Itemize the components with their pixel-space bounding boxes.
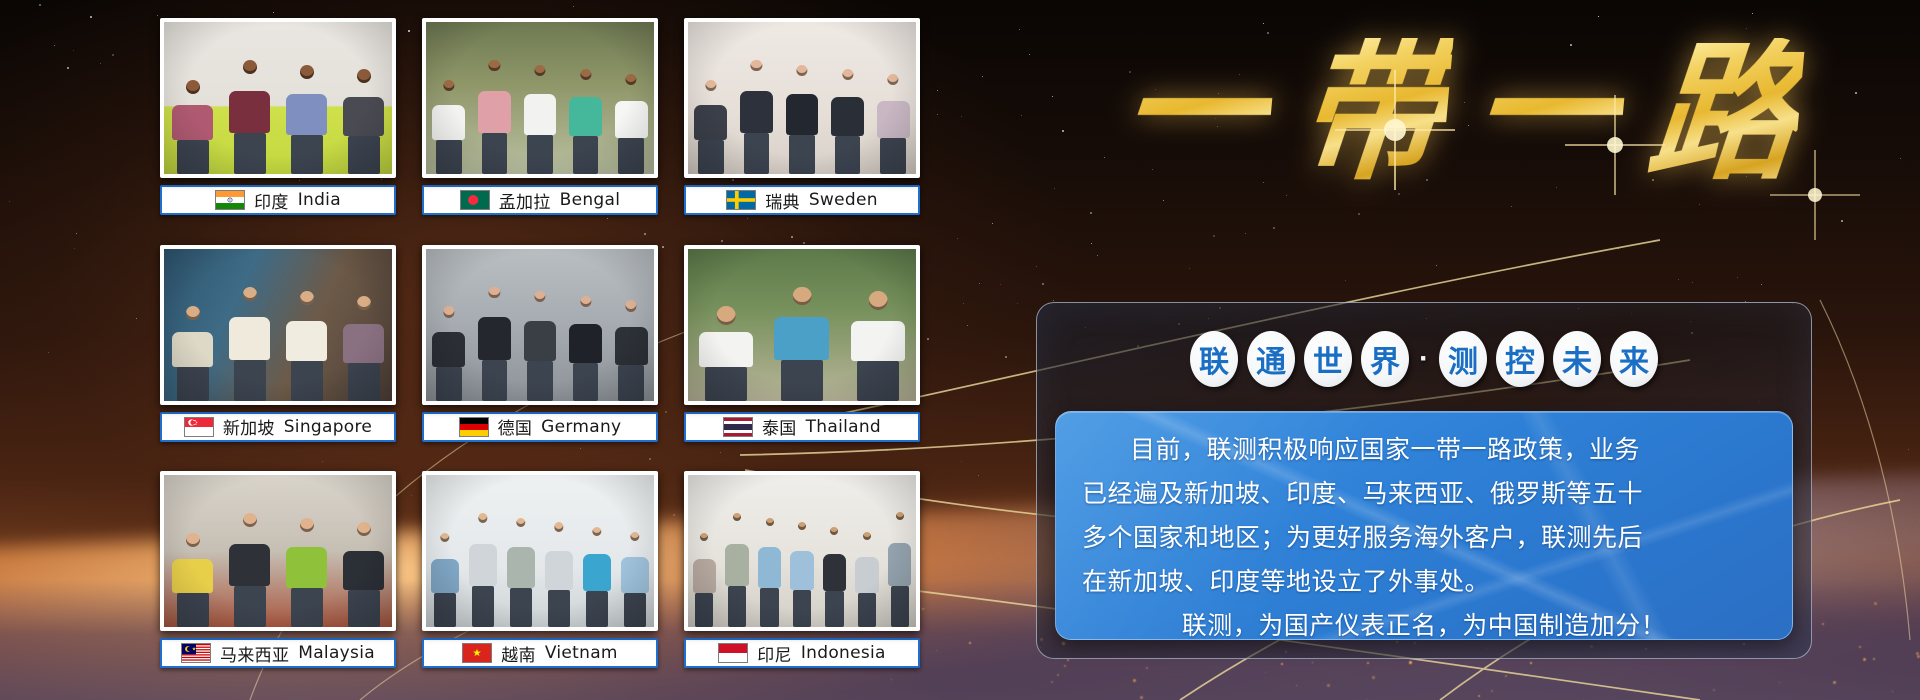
photo-vignette: [426, 249, 654, 401]
slogan-char: 控: [1496, 331, 1544, 387]
country-caption: 印尼Indonesia: [684, 638, 920, 668]
photo-vignette: [164, 475, 392, 627]
star-dot: [1678, 279, 1679, 280]
star-dot: [1618, 248, 1619, 249]
country-label-en: Bengal: [560, 190, 621, 210]
calligraphy-char: 路: [1642, 38, 1805, 188]
country-card[interactable]: 印尼Indonesia: [684, 471, 920, 686]
star-dot: [67, 67, 69, 69]
star-dot: [39, 4, 41, 6]
star-dot: [1097, 255, 1098, 256]
star-dot: [1436, 265, 1437, 266]
country-caption: ★马来西亚Malaysia: [160, 638, 396, 668]
slogan-row: 联通世界·测控未来: [1037, 331, 1811, 387]
star-dot: [1091, 243, 1092, 244]
country-label-en: Indonesia: [801, 643, 886, 663]
country-card[interactable]: 印度India: [160, 18, 396, 233]
slogan-char: 未: [1553, 331, 1601, 387]
slogan-char: 世: [1304, 331, 1352, 387]
svg-text:★: ★: [473, 649, 482, 660]
star-dot: [1053, 300, 1054, 301]
description-line: 已经遍及新加坡、印度、马来西亚、俄罗斯等五十: [1082, 472, 1766, 516]
star-dot: [961, 461, 962, 462]
photo-vignette: [426, 22, 654, 174]
star-dot: [136, 318, 137, 319]
photo-vignette: [688, 249, 916, 401]
photo-vignette: [688, 475, 916, 627]
country-caption: 孟加拉Bengal: [422, 185, 658, 215]
calligraphy-char: 一: [1466, 38, 1629, 188]
slogan-char: 界: [1361, 331, 1409, 387]
team-photo-germany[interactable]: [422, 245, 658, 405]
flag-sweden-icon: [726, 190, 756, 210]
photo-vignette: [426, 475, 654, 627]
star-dot: [982, 76, 983, 77]
star-dot: [1273, 227, 1275, 229]
country-card[interactable]: 泰国Thailand: [684, 245, 920, 460]
flag-germany-icon: [459, 417, 489, 437]
star-dot: [76, 233, 77, 234]
country-label: 瑞典: [765, 188, 800, 213]
country-label: 越南: [501, 641, 536, 666]
country-card[interactable]: 孟加拉Bengal: [422, 18, 658, 233]
slogan-char: 来: [1610, 331, 1658, 387]
star-dot: [957, 238, 958, 239]
country-label: 泰国: [762, 414, 797, 439]
description-line: 目前，联测积极响应国家一带一路政策，业务: [1082, 428, 1766, 472]
star-dot: [9, 201, 10, 202]
flag-malaysia-icon: ★: [181, 643, 211, 663]
flag-thailand-icon: [723, 417, 753, 437]
description-line: 在新加坡、印度等地设立了外事处。: [1082, 560, 1766, 604]
star-dot: [273, 12, 274, 13]
team-photo-thailand[interactable]: [684, 245, 920, 405]
flag-indonesia-icon: [718, 643, 748, 663]
flag-bangladesh-icon: [460, 190, 490, 210]
star-dot: [73, 50, 74, 51]
flag-india-icon: [215, 190, 245, 210]
country-label-en: Thailand: [806, 417, 881, 437]
star-dot: [1345, 280, 1346, 281]
star-dot: [112, 54, 114, 56]
star-dot: [100, 63, 101, 64]
country-caption: 德国Germany: [422, 412, 658, 442]
slogan-char: 联: [1190, 331, 1238, 387]
calligraphy-char: 一: [1114, 38, 1277, 188]
team-photo-india[interactable]: [160, 18, 396, 178]
country-label: 新加坡: [223, 414, 275, 439]
country-label: 印度: [254, 188, 289, 213]
description-line: 多个国家和地区；为更好服务海外客户，联测先后: [1082, 516, 1766, 560]
banner-stage: 印度India孟加拉Bengal瑞典Sweden新加坡Singapore德国Ge…: [0, 0, 1920, 700]
photo-vignette: [164, 22, 392, 174]
star-dot: [1005, 356, 1007, 358]
slogan-separator: ·: [1419, 342, 1429, 376]
description-line: 联测，为国产仪表正名，为中国制造加分！: [1082, 604, 1766, 640]
country-label-en: Sweden: [809, 190, 878, 210]
description-box: 目前，联测积极响应国家一带一路政策，业务 已经遍及新加坡、印度、马来西亚、俄罗斯…: [1055, 411, 1793, 640]
country-label-en: Germany: [541, 417, 621, 437]
country-card[interactable]: 瑞典Sweden: [684, 18, 920, 233]
info-panel: 联通世界·测控未来 目前，联测积极响应国家一带一路政策，业务 已经遍及新加坡、印…: [1036, 302, 1812, 659]
star-dot: [967, 325, 968, 326]
team-photo-malaysia[interactable]: [160, 471, 396, 631]
country-caption: 泰国Thailand: [684, 412, 920, 442]
star-dot: [979, 283, 980, 284]
slogan-char: 测: [1439, 331, 1487, 387]
star-dot: [1017, 303, 1018, 304]
star-dot: [573, 6, 574, 7]
country-caption: 新加坡Singapore: [160, 412, 396, 442]
flag-vietnam-icon: ★: [462, 643, 492, 663]
star-dot: [90, 16, 92, 18]
star-dot: [1245, 233, 1246, 234]
star-dot: [963, 303, 964, 304]
star-dot: [1692, 282, 1693, 283]
country-caption: 瑞典Sweden: [684, 185, 920, 215]
headline-calligraphy: 一带一路: [1020, 5, 1900, 220]
country-card[interactable]: ★马来西亚Malaysia: [160, 471, 396, 686]
country-label: 马来西亚: [220, 641, 289, 666]
country-card[interactable]: 德国Germany: [422, 245, 658, 460]
star-dot: [157, 15, 158, 16]
country-card[interactable]: 新加坡Singapore: [160, 245, 396, 460]
star-dot: [1036, 266, 1037, 267]
country-card[interactable]: ★越南Vietnam: [422, 471, 658, 686]
country-label-en: Singapore: [284, 417, 372, 437]
team-photo-bengal[interactable]: [422, 18, 658, 178]
star-dot: [1761, 284, 1762, 285]
star-dot: [937, 90, 938, 91]
star-dot: [1900, 158, 1901, 159]
star-dot: [1841, 220, 1843, 222]
country-label-en: Malaysia: [298, 643, 375, 663]
star-dot: [937, 114, 938, 115]
team-photo-vietnam[interactable]: [422, 471, 658, 631]
star-dot: [1000, 284, 1001, 285]
star-dot: [48, 352, 49, 353]
photo-vignette: [164, 249, 392, 401]
star-dot: [1213, 235, 1215, 237]
star-dot: [1737, 277, 1738, 278]
star-dot: [54, 45, 55, 46]
star-dot: [927, 338, 929, 340]
team-photo-singapore[interactable]: [160, 245, 396, 405]
calligraphy-char: 带: [1290, 38, 1453, 188]
country-photo-grid: 印度India孟加拉Bengal瑞典Sweden新加坡Singapore德国Ge…: [160, 18, 920, 686]
svg-text:★: ★: [192, 647, 197, 653]
country-label: 德国: [498, 414, 533, 439]
team-photo-indonesia[interactable]: [684, 471, 920, 631]
country-label: 孟加拉: [499, 188, 551, 213]
slogan-char: 通: [1247, 331, 1295, 387]
country-caption: 印度India: [160, 185, 396, 215]
star-dot: [961, 116, 962, 117]
star-dot: [1908, 449, 1909, 450]
country-label-en: India: [298, 190, 341, 210]
photo-vignette: [688, 22, 916, 174]
team-photo-sweden[interactable]: [684, 18, 920, 178]
country-label-en: Vietnam: [545, 643, 618, 663]
star-dot: [1042, 283, 1044, 285]
country-label: 印尼: [757, 641, 792, 666]
star-dot: [992, 223, 993, 224]
country-caption: ★越南Vietnam: [422, 638, 658, 668]
star-dot: [1189, 268, 1190, 269]
flag-singapore-icon: [184, 417, 214, 437]
